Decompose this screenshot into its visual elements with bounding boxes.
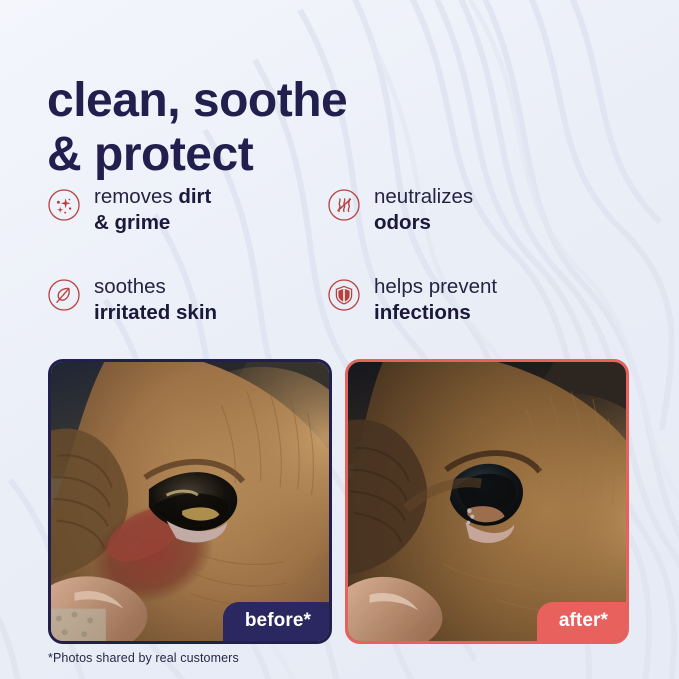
leaf-circle-glyph (47, 278, 81, 312)
feature-prevents-infections-label: helps prevent infections (374, 274, 497, 326)
headline-line-2: & protect (47, 128, 467, 182)
feature-soothes-skin-label: soothes irritated skin (94, 274, 217, 326)
before-label-badge: before* (223, 602, 329, 641)
headline-line-1: clean, soothe (47, 74, 467, 128)
feature-neutralizes-odors: neutralizes odors (327, 184, 623, 274)
feature-2-light: neutralizes (374, 185, 473, 208)
feature-list: removes dirt & grime neutralizes (47, 184, 643, 364)
promo-card: clean, soothe & protect removes dirt & g… (0, 0, 679, 679)
no-odor-circle-glyph (327, 188, 361, 222)
after-photo-card[interactable]: after* (345, 359, 629, 644)
leaf-circle-icon (47, 278, 81, 312)
feature-4-bold: infections (374, 301, 471, 324)
feature-soothes-skin: soothes irritated skin (47, 274, 327, 364)
before-photo-inner (51, 362, 329, 641)
after-label-badge: after* (537, 602, 626, 641)
feature-removes-dirt: removes dirt & grime (47, 184, 327, 274)
shield-circle-glyph (327, 278, 361, 312)
feature-4-light: helps prevent (374, 275, 497, 298)
photo-disclaimer: *Photos shared by real customers (48, 651, 239, 665)
before-after-gallery: before* (48, 359, 630, 644)
page-title: clean, soothe & protect (47, 74, 467, 182)
after-photo-inner (348, 362, 626, 641)
feature-1-bold-2: & grime (94, 211, 170, 234)
feature-2-bold: odors (374, 211, 431, 234)
feature-3-light: soothes (94, 275, 166, 298)
after-dog-photo (348, 362, 626, 641)
feature-1-bold: dirt (178, 185, 211, 208)
after-dog-photo-svg (348, 362, 626, 641)
no-odor-circle-icon (327, 188, 361, 222)
sparkle-circle-icon (47, 188, 81, 222)
feature-1-light: removes (94, 185, 178, 208)
feature-prevents-infections: helps prevent infections (327, 274, 623, 364)
before-dog-photo-svg (51, 362, 329, 641)
sparkle-circle-glyph (47, 188, 81, 222)
before-photo-card[interactable]: before* (48, 359, 332, 644)
before-dog-photo (51, 362, 329, 641)
feature-neutralizes-odors-label: neutralizes odors (374, 184, 473, 236)
shield-circle-icon (327, 278, 361, 312)
feature-3-bold: irritated skin (94, 301, 217, 324)
feature-removes-dirt-label: removes dirt & grime (94, 184, 211, 236)
